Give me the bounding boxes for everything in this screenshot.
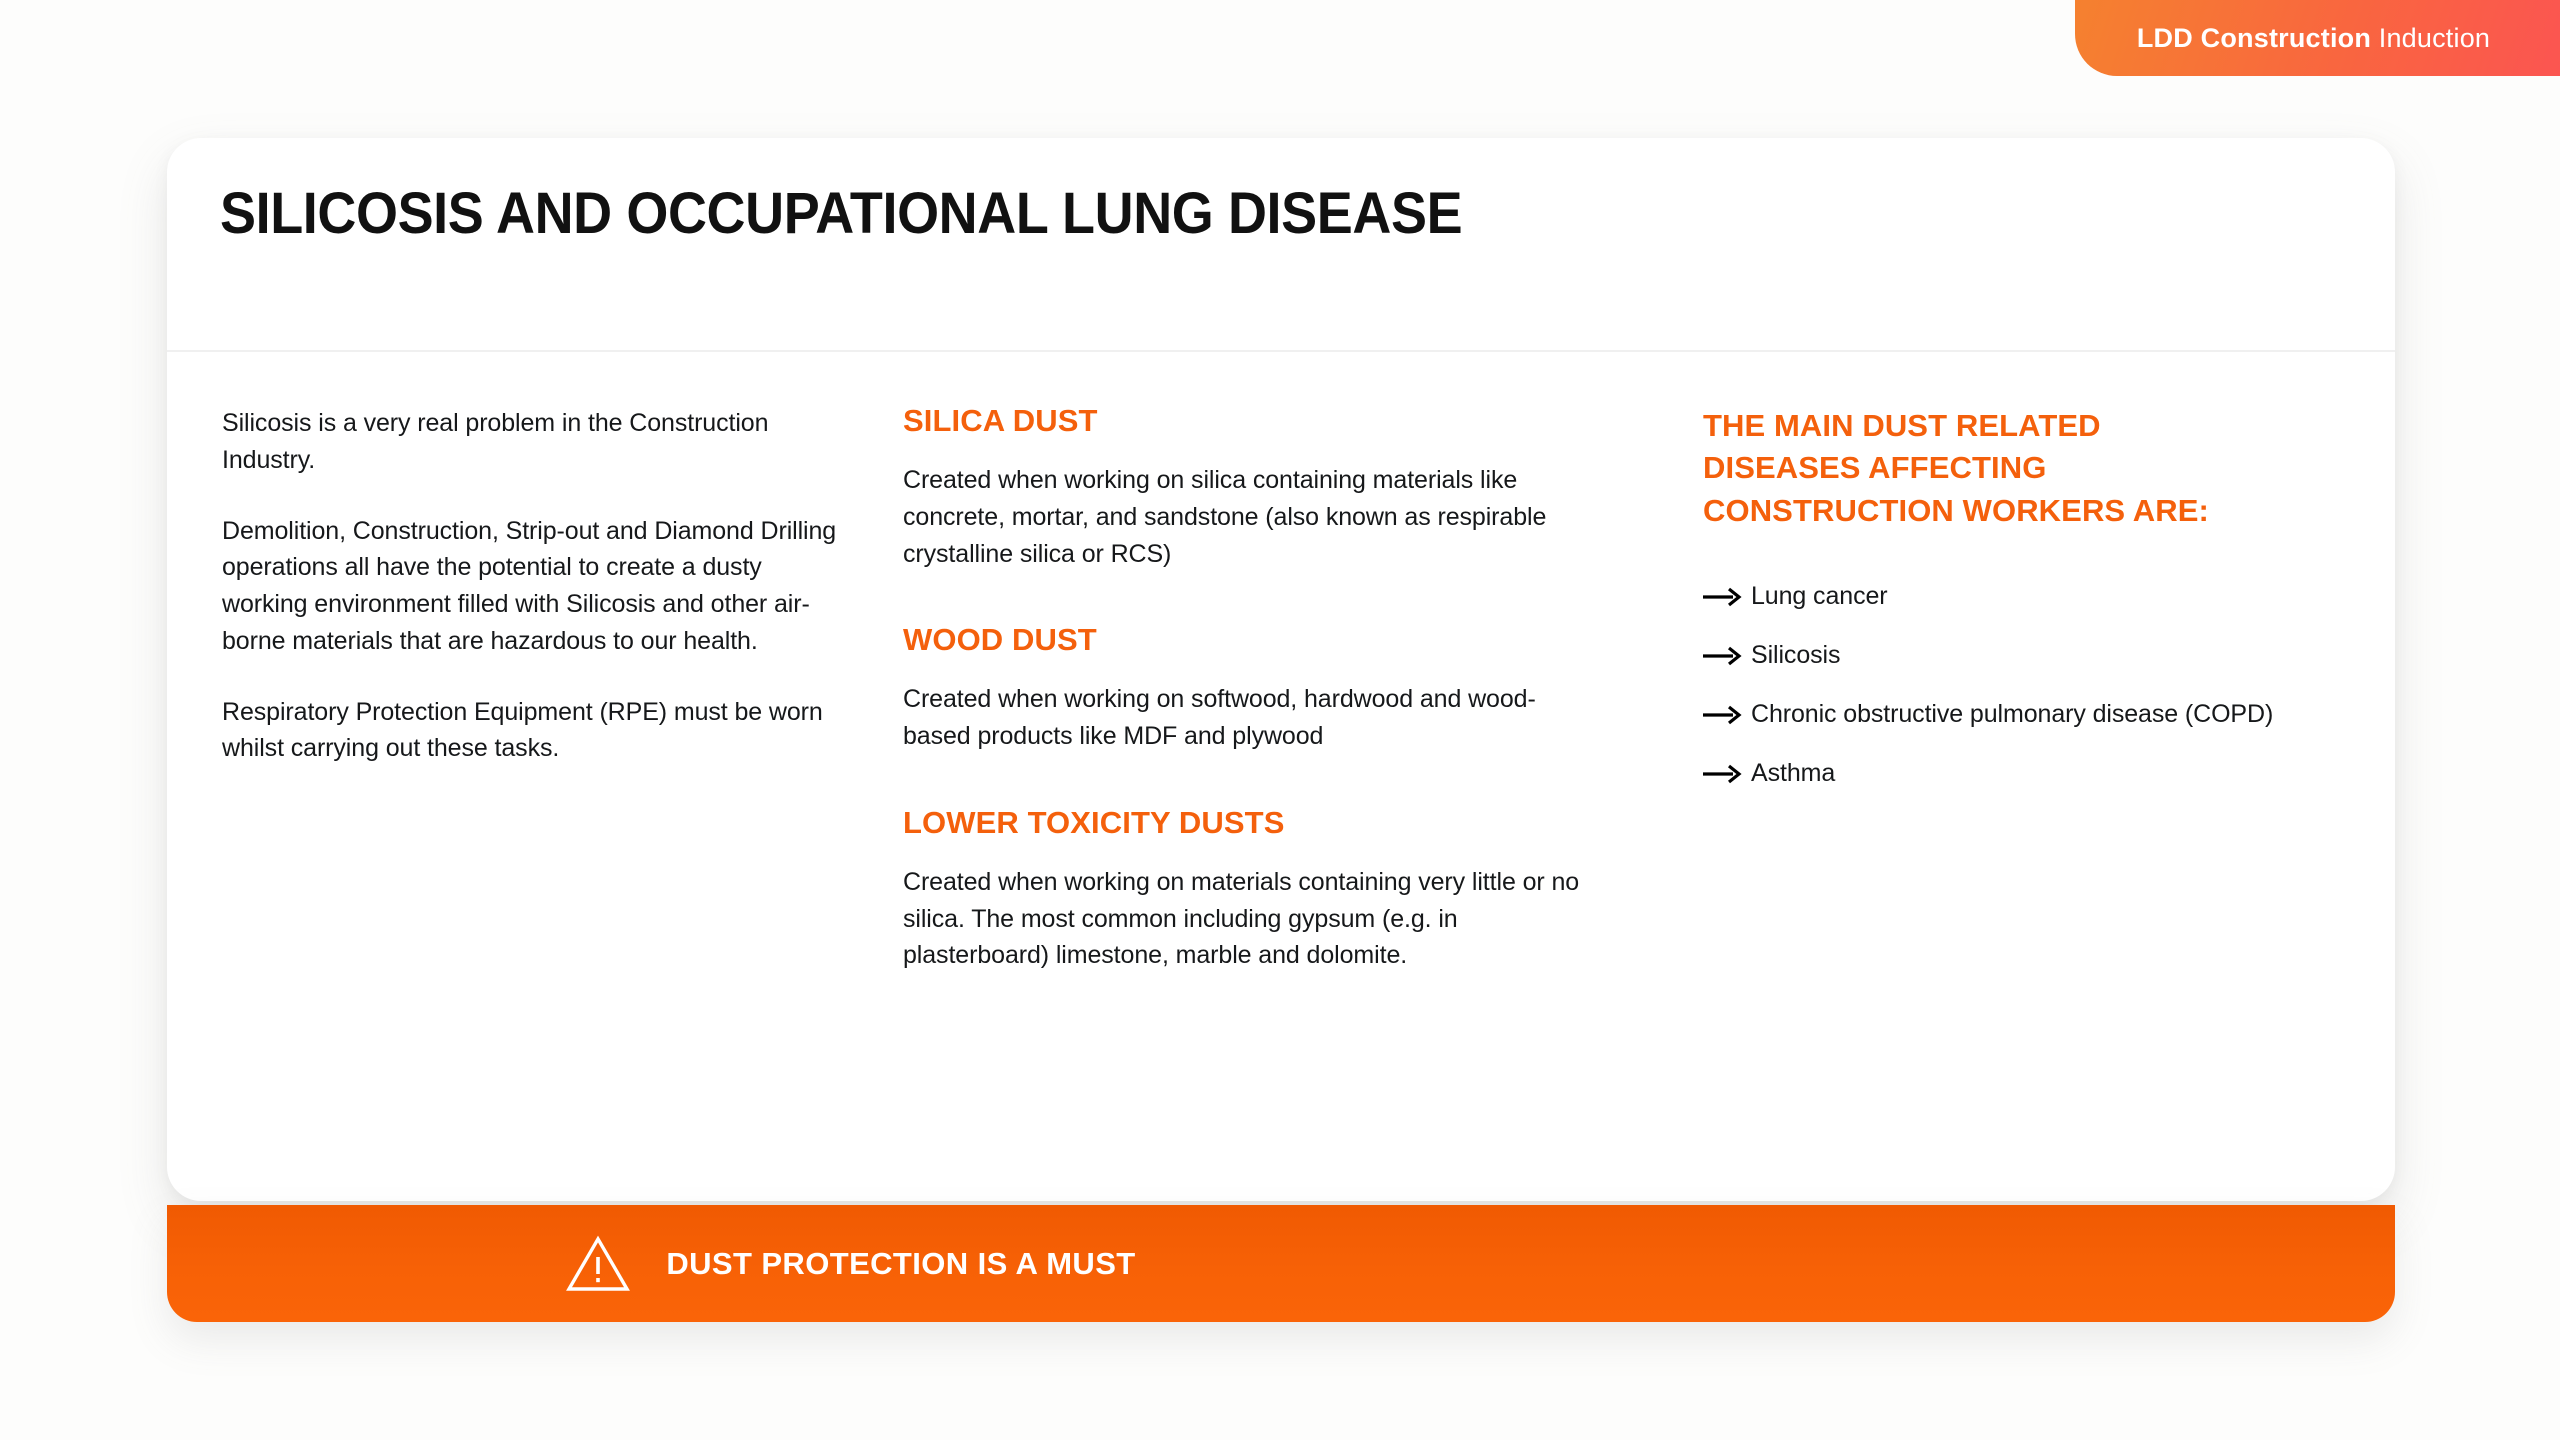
brand-badge-label: LDD Construction Induction xyxy=(2137,23,2490,54)
intro-paragraph-1: Silicosis is a very real problem in the … xyxy=(222,405,843,479)
arrow-right-icon xyxy=(1703,704,1751,726)
footer-warning-banner: DUST PROTECTION IS A MUST xyxy=(167,1205,2395,1322)
columns-container: Silicosis is a very real problem in the … xyxy=(167,350,2395,1201)
brand-badge-rest-text: Induction xyxy=(2371,23,2490,53)
footer-warning-text: DUST PROTECTION IS A MUST xyxy=(666,1246,1135,1282)
brand-badge: LDD Construction Induction xyxy=(2075,0,2560,76)
intro-paragraph-2: Demolition, Construction, Strip-out and … xyxy=(222,513,843,660)
disease-label: Silicosis xyxy=(1751,641,1840,670)
section-body-silica-dust: Created when working on silica containin… xyxy=(903,462,1593,572)
footer-inner: DUST PROTECTION IS A MUST xyxy=(566,1235,1135,1293)
warning-triangle-icon xyxy=(566,1235,630,1293)
page-title: SILICOSIS AND OCCUPATIONAL LUNG DISEASE xyxy=(220,180,1462,247)
list-item: Asthma xyxy=(1703,759,2355,788)
section-body-lower-toxicity-dusts: Created when working on materials contai… xyxy=(903,864,1593,974)
brand-badge-bold-text: LDD Construction xyxy=(2137,23,2371,53)
content-card: SILICOSIS AND OCCUPATIONAL LUNG DISEASE … xyxy=(167,138,2395,1201)
list-item: Chronic obstructive pulmonary disease (C… xyxy=(1703,700,2355,729)
slide-canvas: LDD Construction Induction SILICOSIS AND… xyxy=(0,0,2560,1440)
section-body-wood-dust: Created when working on softwood, hardwo… xyxy=(903,681,1593,755)
list-item: Silicosis xyxy=(1703,641,2355,670)
section-heading-silica-dust: SILICA DUST xyxy=(903,405,1593,436)
disease-list: Lung cancer Silicosis xyxy=(1703,582,2355,788)
column-diseases: THE MAIN DUST RELATED DISEASES AFFECTING… xyxy=(1633,405,2395,1201)
disease-label: Lung cancer xyxy=(1751,582,1888,611)
section-heading-wood-dust: WOOD DUST xyxy=(903,624,1593,655)
column-intro: Silicosis is a very real problem in the … xyxy=(167,405,873,1201)
diseases-heading: THE MAIN DUST RELATED DISEASES AFFECTING… xyxy=(1703,405,2243,532)
arrow-right-icon xyxy=(1703,586,1751,608)
intro-paragraph-3: Respiratory Protection Equipment (RPE) m… xyxy=(222,694,843,768)
arrow-right-icon xyxy=(1703,763,1751,785)
column-dust-types: SILICA DUST Created when working on sili… xyxy=(873,405,1633,1201)
disease-label: Chronic obstructive pulmonary disease (C… xyxy=(1751,700,2273,729)
arrow-right-icon xyxy=(1703,645,1751,667)
disease-label: Asthma xyxy=(1751,759,1835,788)
section-heading-lower-toxicity-dusts: LOWER TOXICITY DUSTS xyxy=(903,807,1593,838)
list-item: Lung cancer xyxy=(1703,582,2355,611)
